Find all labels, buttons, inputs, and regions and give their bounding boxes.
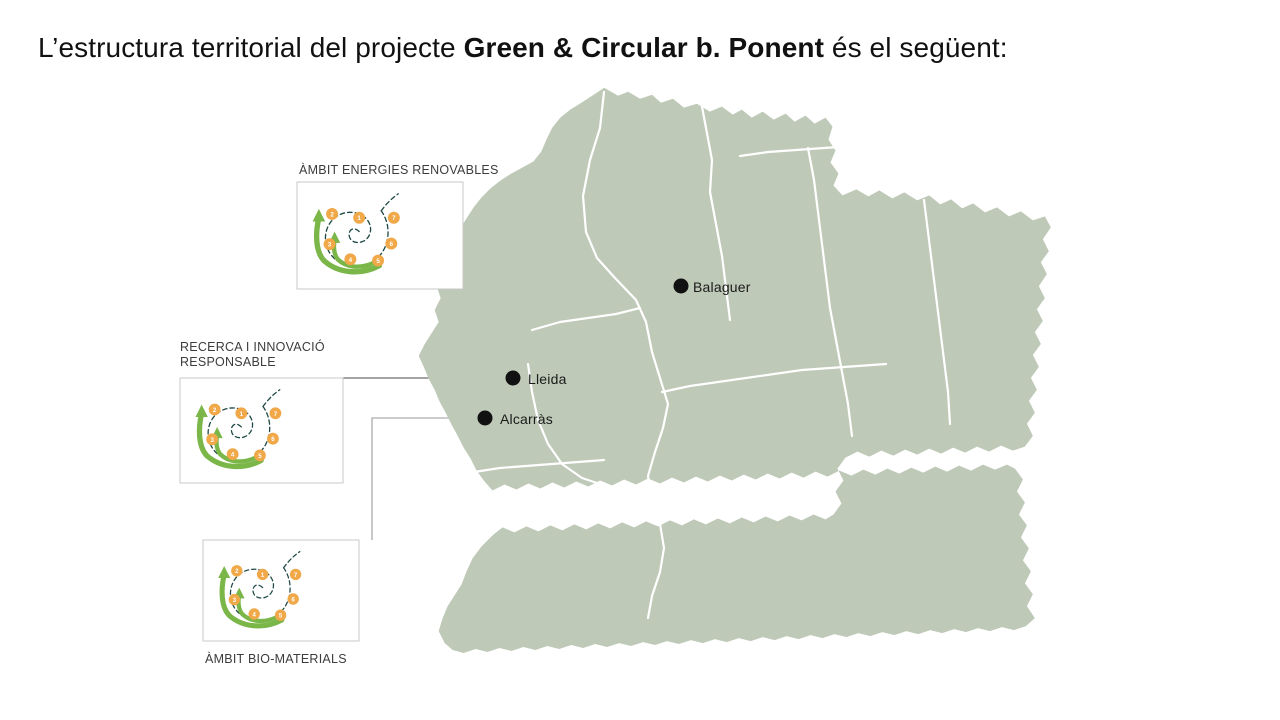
panel-caption-recerca: RECERCA I INNOVACIÓ RESPONSABLE <box>180 340 325 370</box>
panel-biomaterials-frame <box>203 540 359 641</box>
map-landmass <box>419 88 1051 653</box>
panel-energies-renovables[interactable] <box>297 182 463 289</box>
city-dot-alcarras[interactable] <box>478 411 493 426</box>
panel-recerca-innovacio[interactable] <box>180 378 343 483</box>
city-label-lleida: Lleida <box>528 371 567 387</box>
panel-recerca-frame <box>180 378 343 483</box>
territorial-structure-figure: 1 2 3 4 5 <box>0 0 1280 720</box>
map-ponent <box>419 88 1051 653</box>
panel-energies-frame <box>297 182 463 289</box>
city-label-alcarras: Alcarràs <box>500 411 553 427</box>
city-label-balaguer: Balaguer <box>693 279 751 295</box>
panel-bio-materials[interactable] <box>203 540 359 641</box>
panel-caption-energies: ÀMBIT ENERGIES RENOVABLES <box>299 163 499 178</box>
panel-caption-bio-materials: ÀMBIT BIO-MATERIALS <box>205 652 347 667</box>
city-dot-balaguer[interactable] <box>674 279 689 294</box>
city-dot-lleida[interactable] <box>506 371 521 386</box>
